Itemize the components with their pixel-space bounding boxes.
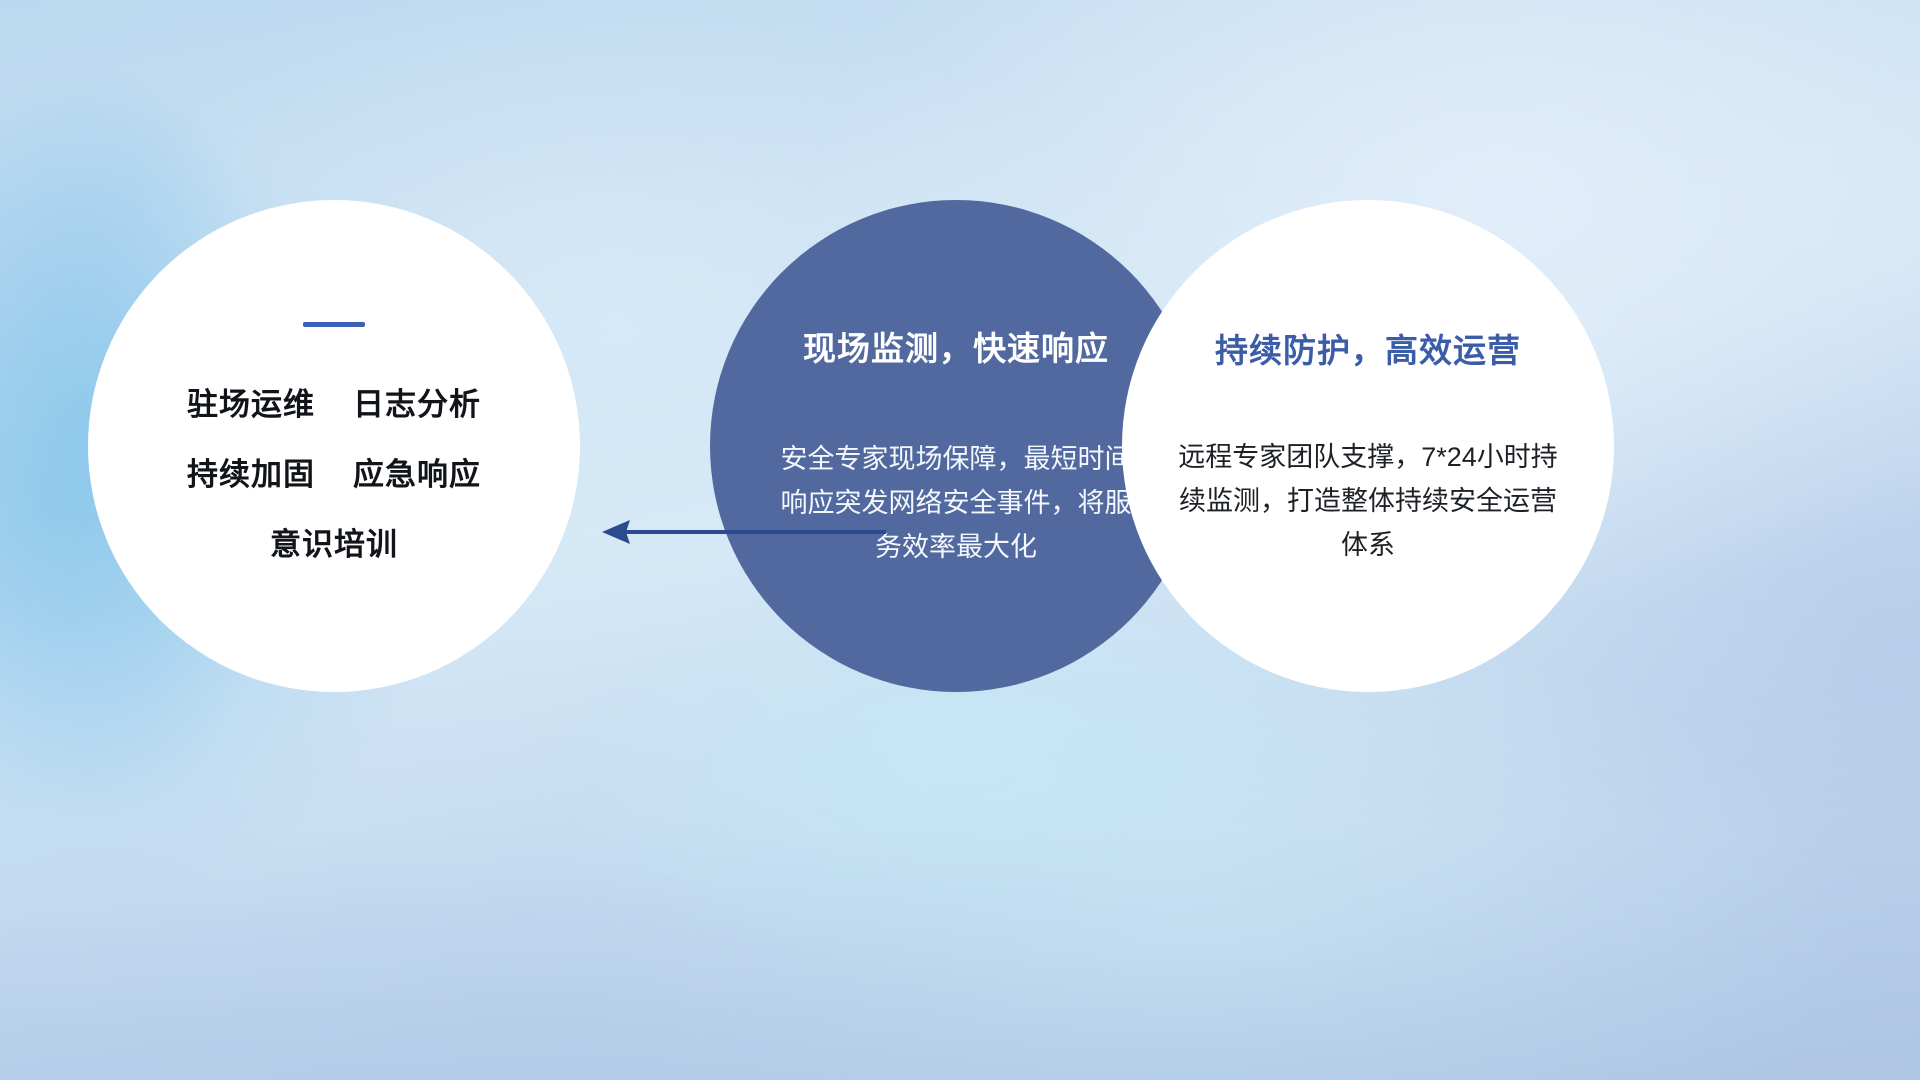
capability-row-1: 驻场运维 日志分析 bbox=[187, 379, 481, 424]
capability-tag: 日志分析 bbox=[353, 379, 481, 424]
onsite-monitoring-title: 现场监测，快速响应 bbox=[803, 322, 1109, 370]
capability-tag: 驻场运维 bbox=[187, 379, 315, 424]
arrow-left-icon bbox=[596, 512, 886, 552]
capability-row-3: 意识培训 bbox=[270, 519, 398, 564]
capability-tag: 应急响应 bbox=[353, 449, 481, 494]
continuous-protection-body: 远程专家团队支撑，7*24小时持续监测，打造整体持续安全运营体系 bbox=[1166, 436, 1570, 567]
capability-tag: 持续加固 bbox=[187, 449, 315, 494]
title-divider bbox=[303, 322, 365, 327]
continuous-protection-title: 持续防护，高效运营 bbox=[1215, 324, 1521, 372]
diagram-stage: 驻场运维 日志分析 持续加固 应急响应 意识培训 现场监测，快速响应 安全专家现… bbox=[0, 0, 1920, 1080]
capability-tag-rows: 驻场运维 日志分析 持续加固 应急响应 意识培训 bbox=[187, 379, 481, 564]
capability-tag: 意识培训 bbox=[270, 519, 398, 564]
capabilities-circle[interactable]: 驻场运维 日志分析 持续加固 应急响应 意识培训 bbox=[88, 200, 580, 692]
continuous-protection-circle[interactable]: 持续防护，高效运营 远程专家团队支撑，7*24小时持续监测，打造整体持续安全运营… bbox=[1122, 200, 1614, 692]
capability-row-2: 持续加固 应急响应 bbox=[187, 449, 481, 494]
